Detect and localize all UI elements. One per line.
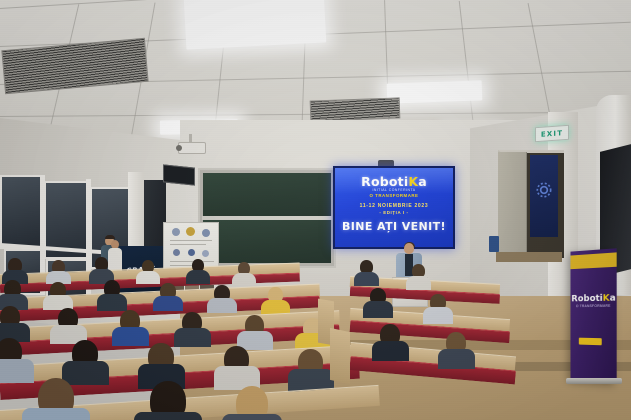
- audience-shoulders: [22, 408, 90, 420]
- door-leaf[interactable]: [498, 152, 527, 254]
- projection-screen: RobotiKa INITIAL CONFERINTA O TRANSFORMA…: [333, 166, 455, 249]
- rollup-word-part1: Roboti: [571, 294, 602, 305]
- audience-shoulders: [186, 270, 210, 284]
- audience-shoulders: [0, 359, 34, 383]
- rollup-banner-base: [566, 378, 622, 384]
- audience-shoulders: [153, 296, 183, 311]
- audience-shoulders: [174, 328, 211, 347]
- audience-shoulders: [232, 273, 256, 285]
- ceiling-vent: [310, 97, 401, 121]
- chalkboard-panel-upper: [203, 173, 331, 217]
- audience-shoulders: [97, 294, 127, 311]
- audience-shoulders: [112, 327, 149, 346]
- audience-shoulders: [423, 307, 453, 324]
- projector-lens-icon: [176, 145, 182, 151]
- welcome-message: BINE AȚI VENIT!: [335, 220, 453, 233]
- gear-icon: [534, 180, 554, 200]
- robotika-logo: RobotiKa INITIAL CONFERINTA O TRANSFORMA…: [335, 176, 453, 199]
- ceiling-vent: [1, 38, 148, 94]
- logo-word-part3: a: [418, 174, 427, 189]
- rollup-banner: RobotiKa O TRANSFORMARE: [571, 248, 617, 383]
- exit-sign-label: EXIT: [541, 129, 563, 139]
- logo-word-part2: K: [408, 174, 418, 189]
- audience-shoulders: [354, 272, 379, 286]
- event-date: 11-12 NOIEMBRIE 2023: [335, 202, 453, 210]
- trash-bin: [489, 236, 499, 252]
- audience-shoulders: [372, 341, 409, 361]
- audience-shoulders: [363, 301, 393, 318]
- audience-shoulders: [438, 349, 475, 369]
- exit-sign: EXIT: [535, 125, 569, 142]
- rollup-word-part3: a: [610, 293, 616, 303]
- tiered-seating: [0, 282, 360, 420]
- rollup-subtitle: O TRANSFORMARE: [571, 304, 617, 309]
- ceiling-light-panel: [184, 0, 327, 50]
- seating-end-panel: [330, 328, 350, 384]
- chalkboard-panel-lower: [203, 220, 331, 263]
- audience-shoulders: [134, 412, 202, 420]
- event-edition: - EDIȚIA I -: [335, 210, 453, 215]
- ceiling-light-panel: [387, 80, 483, 103]
- logo-word-part1: Roboti: [361, 174, 408, 189]
- ceiling-projector: [178, 142, 206, 154]
- audience-shoulders: [207, 298, 237, 313]
- audience-shoulders: [136, 271, 160, 284]
- audience-shoulders: [406, 276, 431, 290]
- doorway-threshold: [496, 252, 562, 262]
- side-seating: [350, 282, 510, 420]
- wall-mounted-display: [163, 164, 195, 185]
- logo-subtitle-2: O TRANSFORMARE: [335, 193, 453, 199]
- lecture-hall-photo: EXIT RobotiKa INITIAL CONFERINTA O TR: [0, 0, 631, 420]
- rollup-word-part2: K: [603, 294, 610, 304]
- audience-shoulders: [222, 414, 282, 420]
- audience-shoulders: [62, 361, 109, 385]
